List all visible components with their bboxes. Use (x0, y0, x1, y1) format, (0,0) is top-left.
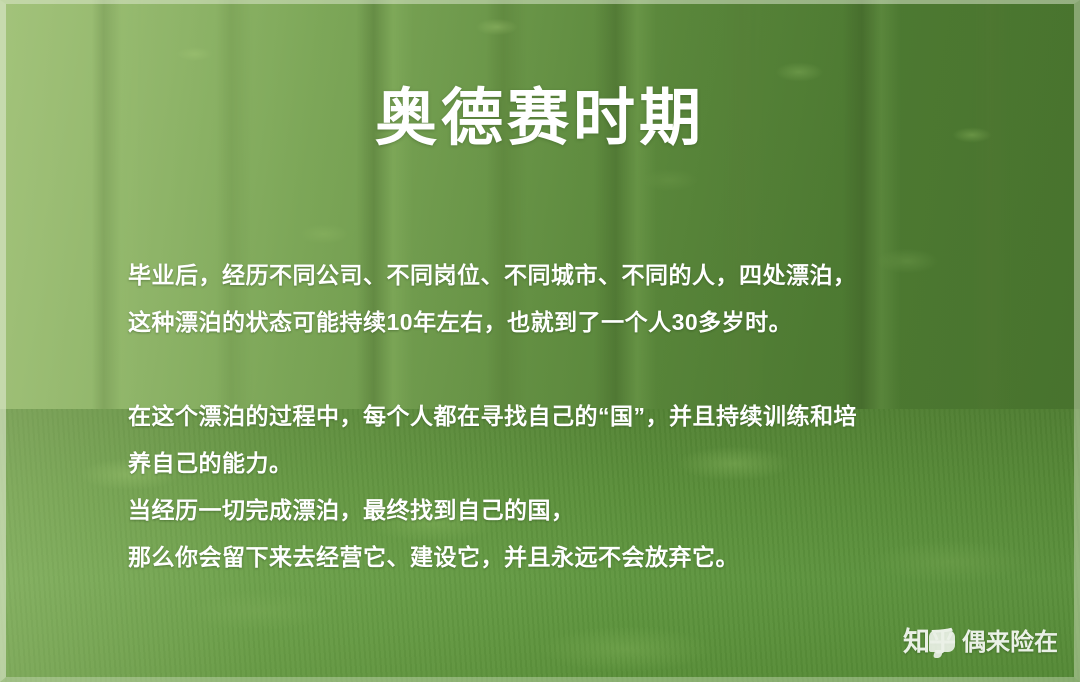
body-line: 毕业后，经历不同公司、不同岗位、不同城市、不同的人，四处漂泊， (128, 252, 1008, 299)
body-line: 在这个漂泊的过程中，每个人都在寻找自己的“国”，并且持续训练和培 (128, 393, 1008, 440)
zhihu-speech-bubble-icon (929, 630, 955, 652)
paragraph-1: 毕业后，经历不同公司、不同岗位、不同城市、不同的人，四处漂泊， 这种漂泊的状态可… (128, 252, 1008, 346)
body-line: 那么你会留下来去经营它、建设它，并且永远不会放弃它。 (128, 534, 1008, 581)
slide-content: 奥德赛时期 毕业后，经历不同公司、不同岗位、不同城市、不同的人，四处漂泊， 这种… (0, 0, 1080, 682)
body-line: 当经历一切完成漂泊，最终找到自己的国， (128, 487, 1008, 534)
slide-body-text: 毕业后，经历不同公司、不同岗位、不同城市、不同的人，四处漂泊， 这种漂泊的状态可… (128, 252, 1008, 581)
watermark-username: 偶来险在 (962, 631, 1058, 655)
slide-title: 奥德赛时期 (0, 82, 1080, 155)
paragraph-2: 在这个漂泊的过程中，每个人都在寻找自己的“国”，并且持续训练和培 养自己的能力。… (128, 393, 1008, 581)
body-line: 养自己的能力。 (128, 440, 1008, 487)
zhihu-logo: 知乎 (903, 629, 955, 656)
presentation-slide: 奥德赛时期 毕业后，经历不同公司、不同岗位、不同城市、不同的人，四处漂泊， 这种… (0, 0, 1080, 682)
paragraph-spacer (128, 346, 1008, 393)
body-line: 这种漂泊的状态可能持续10年左右，也就到了一个人30多岁时。 (128, 299, 1008, 346)
zhihu-watermark: 知乎 偶来险在 (903, 629, 1058, 656)
